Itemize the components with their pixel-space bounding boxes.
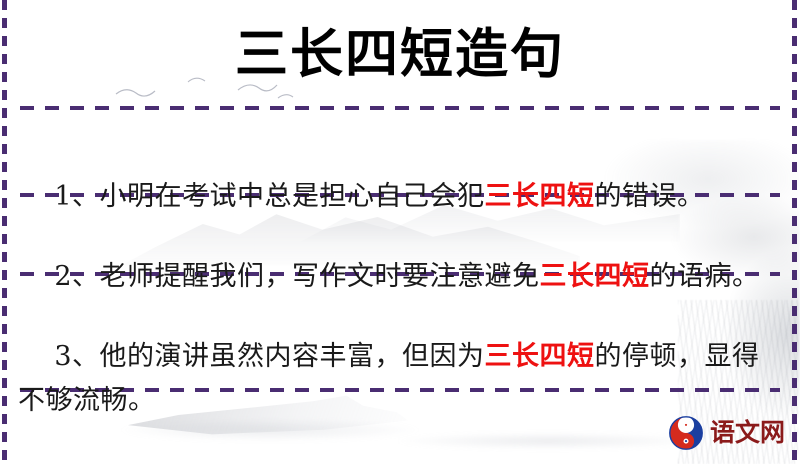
sentence-2-text-after: 的语病。 (650, 261, 760, 292)
sentence-3-text-before: 他的演讲虽然内容丰富，但因为 (100, 341, 485, 372)
sentence-2-keyword: 三长四短 (540, 261, 650, 292)
sentence-2-number: 2、 (54, 261, 99, 292)
site-logo[interactable]: 语文网 (668, 410, 794, 456)
logo-text: 语文网 (710, 418, 785, 448)
sentence-1-text-before: 小明在考试中总是担心自己会犯 (100, 181, 485, 212)
sentence-2-text-before: 老师提醒我们，写作文时要注意避免 (100, 261, 540, 292)
sentence-3-number: 3、 (54, 341, 99, 372)
page-title: 三长四短造句 (0, 22, 800, 86)
sentence-1-keyword: 三长四短 (485, 181, 595, 212)
sentence-1-text-after: 的错误。 (595, 181, 705, 212)
separator-below-title (20, 106, 780, 110)
sentence-1-number: 1、 (54, 181, 99, 212)
yinyang-fish-icon (668, 415, 704, 451)
sentence-3-keyword: 三长四短 (485, 341, 595, 372)
page-root: 三长四短造句 1、小明在考试中总是担心自己会犯三长四短的错误。 2、老师提醒我们… (0, 0, 800, 464)
